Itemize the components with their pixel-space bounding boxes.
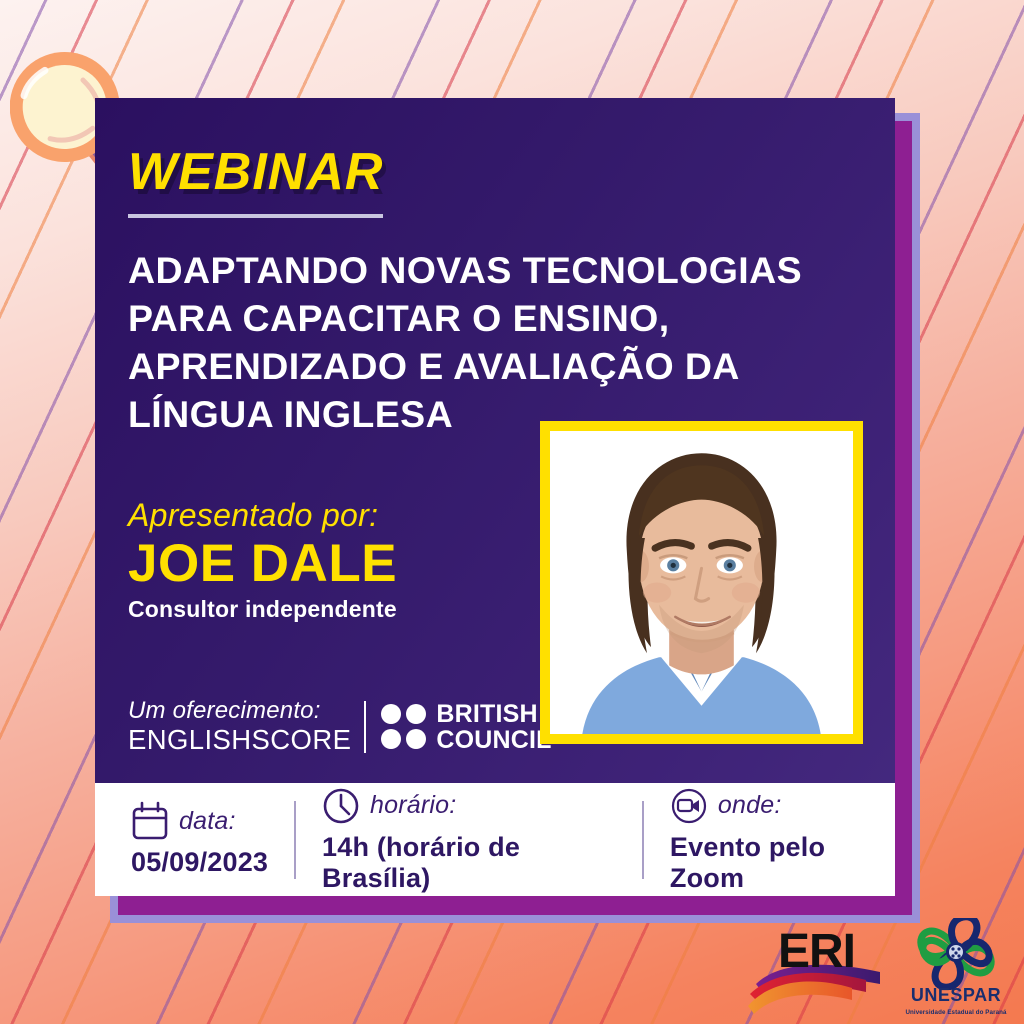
british-council-wordmark: BRITISH COUNCIL (436, 701, 551, 754)
info-date-value: 05/09/2023 (131, 847, 268, 878)
unespar-subtitle: Universidade Estadual do Paraná (902, 1009, 1010, 1016)
joe-dale-headshot (550, 431, 853, 734)
unespar-wordmark: UNESPAR (902, 985, 1010, 1006)
speaker-portrait-frame (540, 421, 863, 744)
webinar-underline (128, 214, 383, 218)
sponsor-row: Um oferecimento: ENGLISHSCORE BRITISH CO… (128, 698, 552, 756)
unespar-logo: UNESPAR Universidade Estadual do Paraná (902, 918, 1010, 1018)
bc-dot (406, 704, 426, 724)
englishscore-brand: ENGLISHSCORE (128, 725, 351, 756)
bc-dot (381, 729, 401, 749)
eri-logo: ERI (748, 926, 888, 1018)
sponsor-divider (364, 701, 366, 753)
sponsor-text-group: Um oferecimento: ENGLISHSCORE (128, 698, 351, 756)
bc-dot (406, 729, 426, 749)
calendar-icon (131, 801, 169, 841)
british-council-dots-icon (381, 704, 426, 749)
unespar-flower-icon (902, 918, 1010, 990)
info-date-header: data: (131, 801, 268, 841)
webinar-badge-label: WEBINAR (128, 146, 383, 198)
bc-dot (381, 704, 401, 724)
presenter-block: Apresentado por: JOE DALE Consultor inde… (128, 498, 397, 623)
footer-logos: ERI (748, 918, 1010, 1018)
bc-line-2: COUNCIL (436, 727, 551, 753)
info-time-value: 14h (horário de Brasília) (322, 832, 620, 894)
info-column-date: data: 05/09/2023 (95, 801, 294, 878)
eri-wordmark: ERI (778, 928, 855, 976)
bc-line-1: BRITISH (436, 701, 551, 727)
webinar-badge: WEBINAR (128, 146, 383, 218)
presented-by-label: Apresentado por: (128, 498, 397, 533)
speaker-name: JOE DALE (128, 535, 397, 592)
info-column-location: onde: Evento pelo Zoom (644, 786, 895, 894)
offered-by-label: Um oferecimento: (128, 698, 351, 725)
webinar-card: WEBINAR ADAPTANDO NOVAS TECNOLOGIAS PARA… (95, 98, 895, 896)
info-location-value: Evento pelo Zoom (670, 832, 895, 894)
british-council-logo: BRITISH COUNCIL (381, 701, 551, 754)
avatar (550, 431, 853, 734)
info-location-header: onde: (670, 786, 895, 826)
speaker-role: Consultor independente (128, 596, 397, 623)
video-camera-icon (670, 786, 708, 826)
info-date-label: data: (179, 807, 236, 836)
event-info-bar: data: 05/09/2023 horário: 14h (horário d… (95, 783, 895, 896)
clock-icon (322, 786, 360, 826)
info-time-header: horário: (322, 786, 620, 826)
info-location-label: onde: (718, 791, 782, 820)
page-title: ADAPTANDO NOVAS TECNOLOGIAS PARA CAPACIT… (128, 246, 868, 438)
info-time-label: horário: (370, 791, 456, 820)
info-column-time: horário: 14h (horário de Brasília) (296, 786, 642, 894)
